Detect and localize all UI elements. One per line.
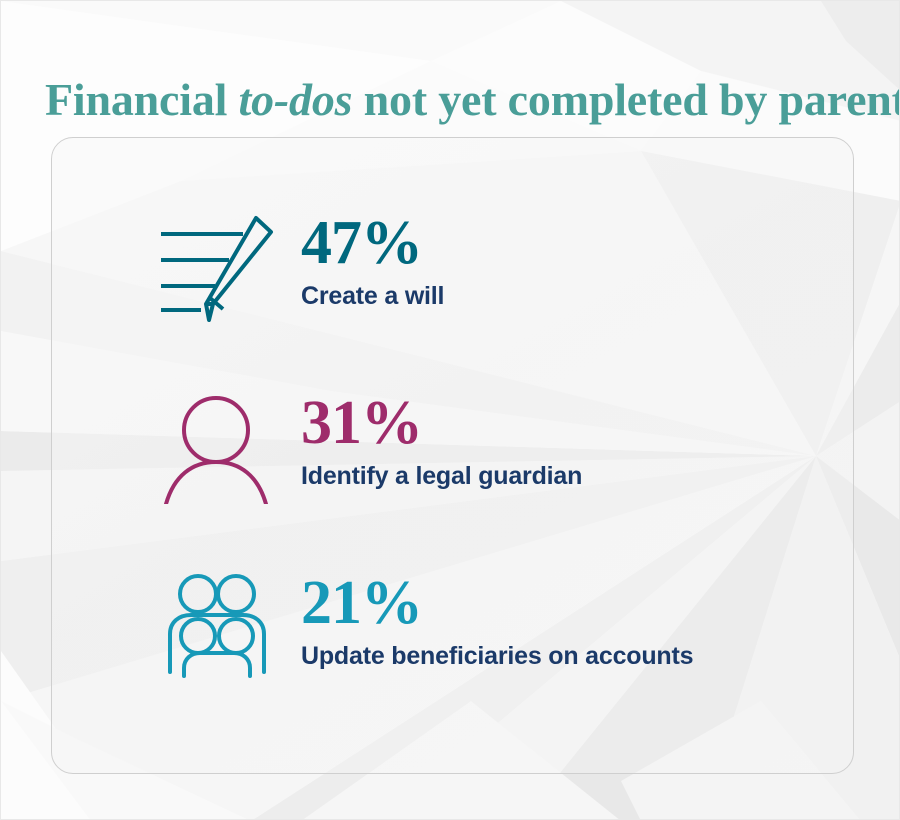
pencil-writing-lines-icon [153,205,279,331]
title-part-before: Financial [45,74,239,125]
stat-row: 31% Identify a legal guardian [153,385,582,511]
stat-row: 47% Create a will [153,205,444,331]
stat-label: Identify a legal guardian [301,461,582,491]
infographic-root: Financial to-dos not yet completed by pa… [0,0,900,820]
stat-label: Create a will [301,281,444,311]
title-emphasis: to-dos [239,74,353,125]
person-icon [153,385,279,511]
stat-text-block: 31% Identify a legal guardian [301,385,582,491]
family-group-icon [153,565,279,691]
stat-value: 31% [301,391,582,455]
stat-text-block: 21% Update beneficiaries on accounts [301,565,693,671]
page-title: Financial to-dos not yet completed by pa… [45,70,875,132]
stat-row: 21% Update beneficiaries on accounts [153,565,693,691]
stat-value: 47% [301,211,444,275]
stat-label: Update beneficiaries on accounts [301,641,693,671]
stat-text-block: 47% Create a will [301,205,444,311]
title-part-after: not yet completed by parents [352,74,900,125]
stat-value: 21% [301,571,693,635]
